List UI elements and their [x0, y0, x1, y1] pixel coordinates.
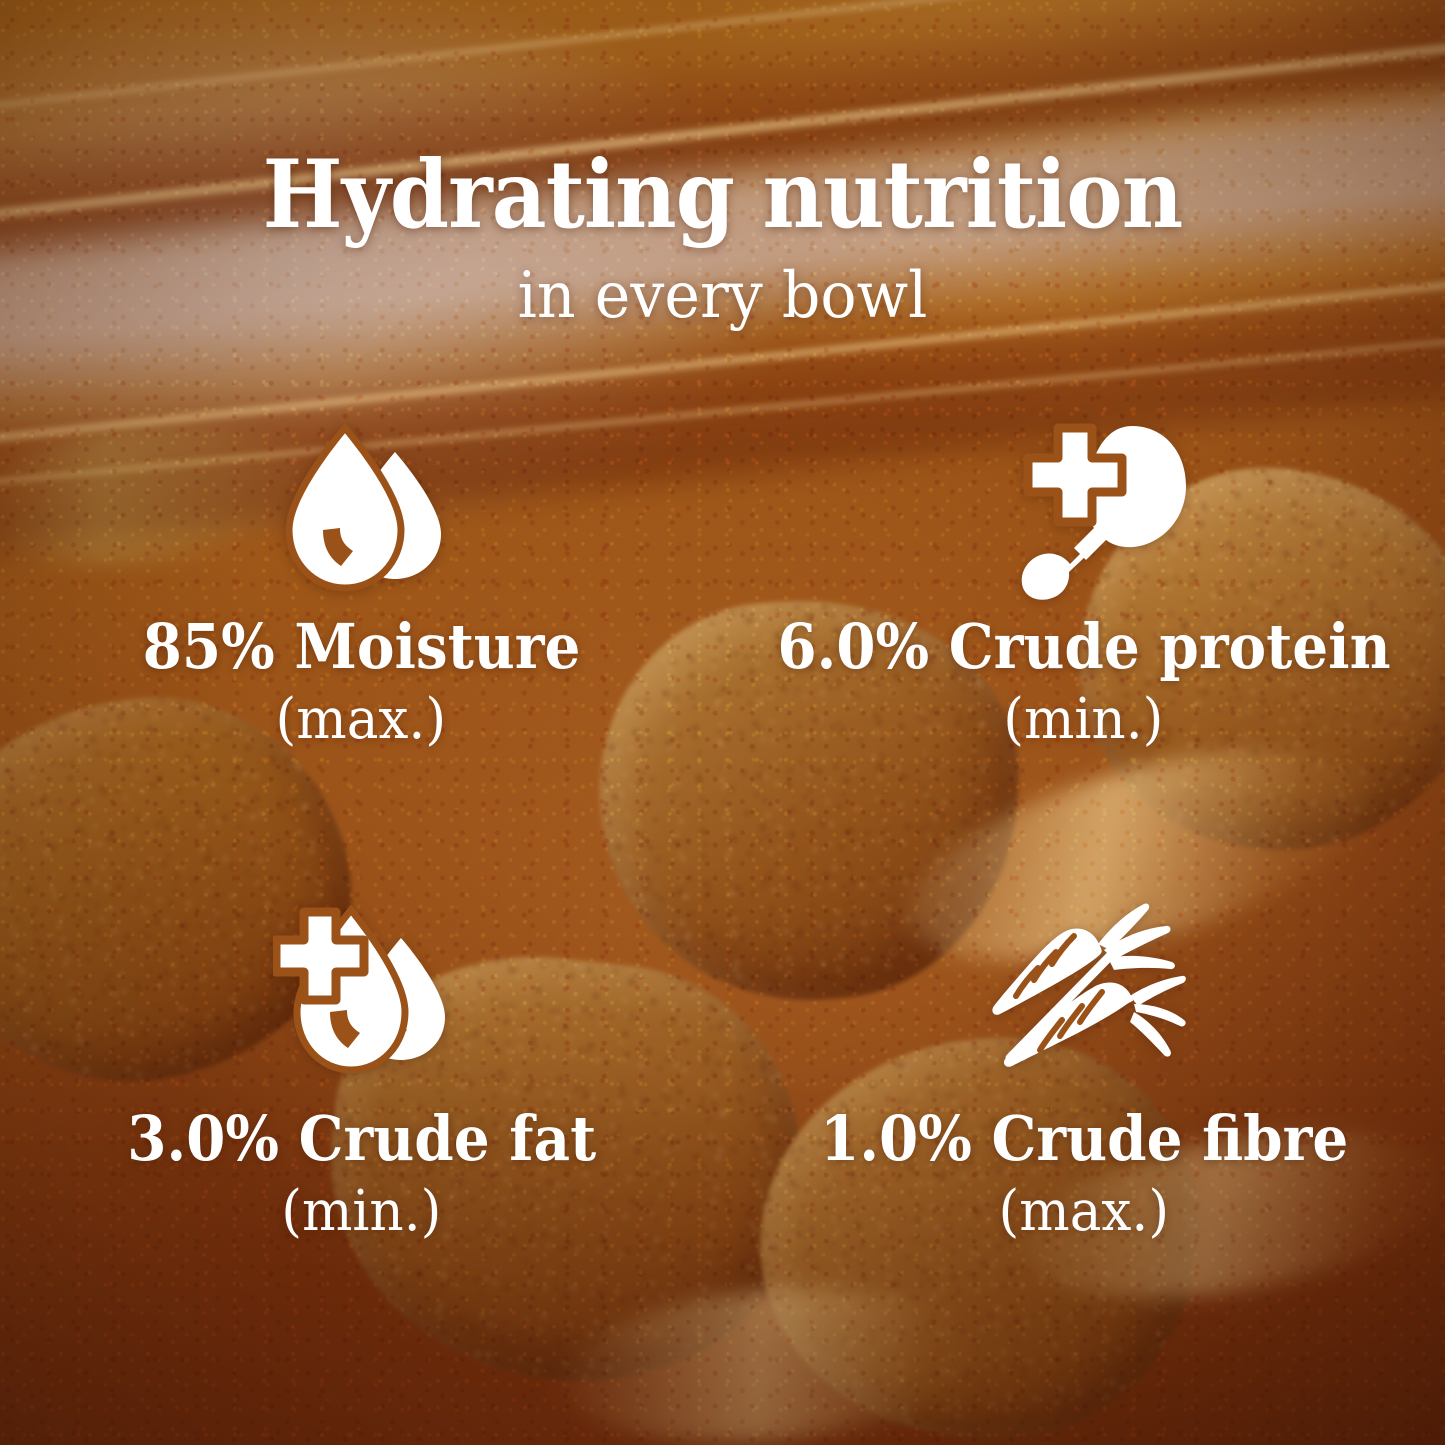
water-drops-plus-icon — [265, 900, 458, 1090]
stat-value: 6.0% Crude protein — [777, 614, 1390, 679]
stat-item-crude-protein: 6.0% Crude protein (min.) — [723, 420, 1445, 900]
stat-item-crude-fat: 3.0% Crude fat (min.) — [0, 900, 723, 1380]
chicken-drumstick-plus-icon — [978, 420, 1189, 610]
stat-item-moisture: 85% Moisture (max.) — [0, 420, 723, 900]
stat-qualifier: (max.) — [998, 1181, 1169, 1243]
stat-qualifier: (max.) — [276, 689, 447, 751]
stat-qualifier: (min.) — [281, 1181, 441, 1243]
overlay-content: Hydrating nutrition in every bowl — [0, 0, 1445, 1445]
stat-qualifier: (min.) — [1004, 689, 1164, 751]
nutrition-infographic: Hydrating nutrition in every bowl — [0, 0, 1445, 1445]
stat-value: 1.0% Crude fibre — [820, 1106, 1348, 1171]
nutrition-stats-grid: 85% Moisture (max.) — [0, 420, 1445, 1380]
stat-value: 85% Moisture — [142, 614, 580, 679]
page-title: Hydrating nutrition — [72, 148, 1373, 242]
water-drops-icon — [269, 420, 453, 610]
carrots-icon — [980, 900, 1187, 1090]
stat-value: 3.0% Crude fat — [127, 1106, 596, 1171]
page-subtitle: in every bowl — [43, 264, 1401, 328]
stat-item-crude-fibre: 1.0% Crude fibre (max.) — [723, 900, 1445, 1380]
headline-block: Hydrating nutrition in every bowl — [0, 148, 1445, 328]
